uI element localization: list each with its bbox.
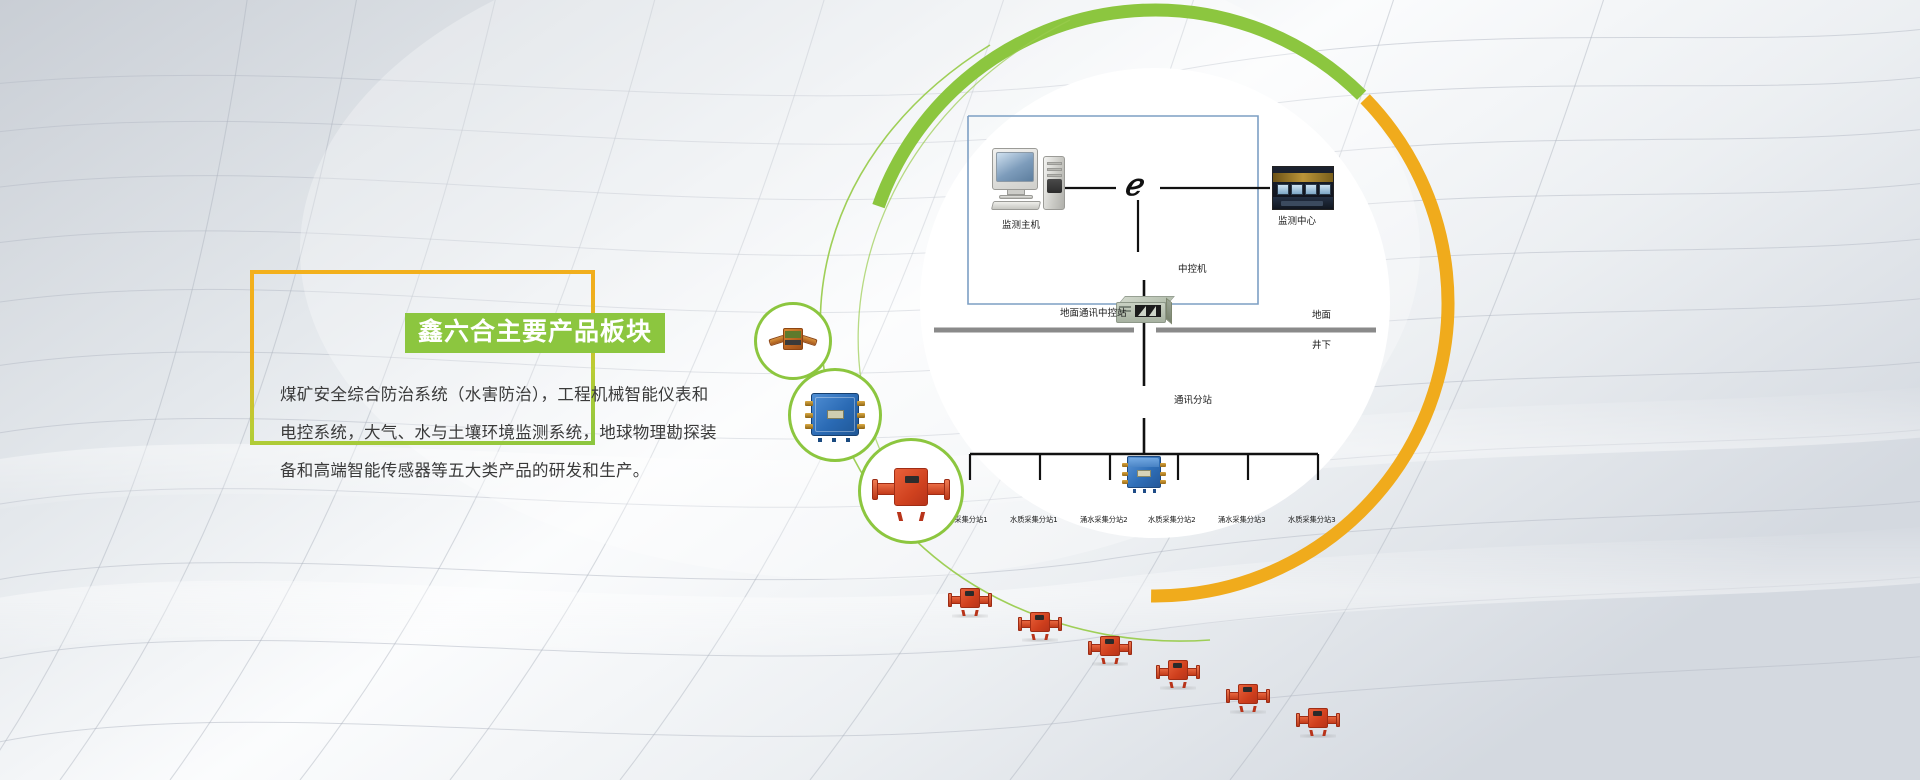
red-flow-device-icon — [950, 588, 990, 612]
topology-diagram: 监测主机 𝑒 监测中心 中控机 地面通讯中控站 地面 井下 — [920, 68, 1390, 538]
intro-line-1: 煤矿安全综合防治系统（水害防治），工程机械智能仪表和 — [280, 376, 980, 414]
page-title: 鑫六合主要产品板块 — [418, 317, 652, 346]
video-wall-icon — [1272, 166, 1334, 210]
intro-line-2: 电控系统，大气、水与土壤环境监测系统，地球物理勘探装 — [280, 414, 980, 452]
station-box-label: 地面通讯中控站 — [1060, 308, 1127, 319]
collector-label: 水质采集分站3 — [1288, 514, 1336, 525]
desktop-computer-icon — [992, 148, 1065, 210]
orange-sensor-device-icon — [770, 328, 816, 354]
node-label-ctrl: 中控机 — [1178, 264, 1207, 275]
collector-label: 水质采集分站1 — [1010, 514, 1058, 525]
collector-label: 涌水采集分站3 — [1218, 514, 1266, 525]
surface-label: 地面 — [1312, 310, 1331, 321]
red-flow-device-icon — [1298, 708, 1338, 732]
red-flow-device-icon — [1090, 636, 1130, 660]
e-network-icon: 𝑒 — [1124, 172, 1142, 200]
node-label-substation: 通讯分站 — [1174, 395, 1212, 406]
underground-label: 井下 — [1312, 340, 1331, 351]
blue-junction-box-icon — [1121, 454, 1167, 490]
collector-label: 涌水采集分站2 — [1080, 514, 1128, 525]
red-flow-device-icon — [1020, 612, 1060, 636]
intro-paragraph: 煤矿安全综合防治系统（水害防治），工程机械智能仪表和 电控系统，大气、水与土壤环… — [280, 376, 980, 490]
red-flow-device-icon — [1158, 660, 1198, 684]
collector-label: 水质采集分站2 — [1148, 514, 1196, 525]
intro-line-3: 备和高端智能传感器等五大类产品的研发和生产。 — [280, 452, 980, 490]
red-flow-device-icon — [1228, 684, 1268, 708]
product-intro-panel: 鑫六合主要产品板块 煤矿安全综合防治系统（水害防治），工程机械智能仪表和 电控系… — [250, 270, 595, 445]
node-label-center: 监测中心 — [1278, 216, 1316, 227]
section-title-banner: 鑫六合主要产品板块 — [405, 313, 665, 353]
callout-bubble-orange[interactable] — [754, 302, 832, 380]
node-label-host: 监测主机 — [1002, 220, 1040, 231]
